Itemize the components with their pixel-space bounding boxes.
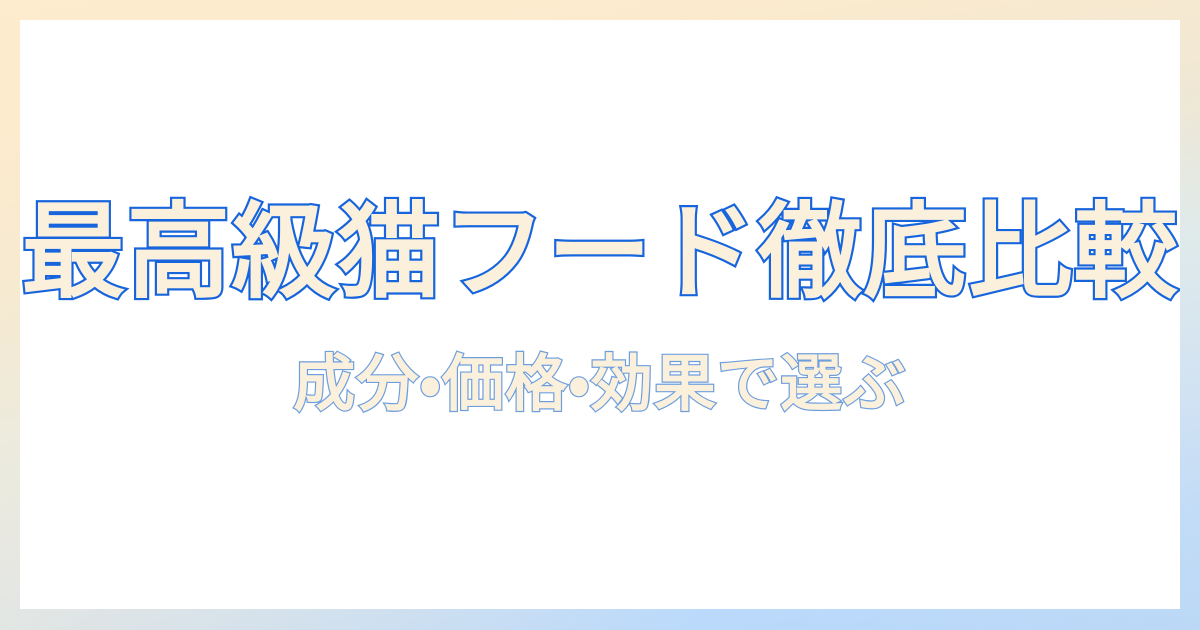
page-title: 最高級猫フード徹底比較	[21, 196, 1179, 308]
headline-block: 最高級猫フード徹底比較 成分・価格・効果で選ぶ	[20, 196, 1180, 419]
title-card-canvas: 最高級猫フード徹底比較 成分・価格・効果で選ぶ	[0, 0, 1200, 630]
white-content-card: 最高級猫フード徹底比較 成分・価格・効果で選ぶ	[20, 20, 1180, 609]
page-subtitle: 成分・価格・効果で選ぶ	[293, 350, 907, 418]
